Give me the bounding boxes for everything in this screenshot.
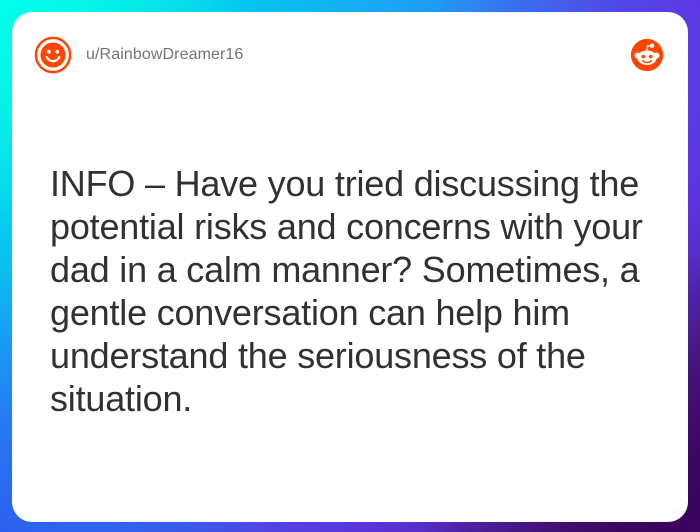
reddit-snoo-logo-icon[interactable] [630, 38, 664, 72]
username-label: u/RainbowDreamer16 [86, 46, 243, 64]
post-header: u/RainbowDreamer16 [12, 12, 688, 98]
post-text: INFO – Have you tried discussing the pot… [50, 162, 658, 420]
smiley-face-avatar-icon[interactable] [34, 36, 72, 74]
post-card: u/RainbowDreamer16 INFO – Have you tried… [12, 12, 688, 522]
gradient-backdrop: u/RainbowDreamer16 INFO – Have you tried… [0, 0, 700, 532]
